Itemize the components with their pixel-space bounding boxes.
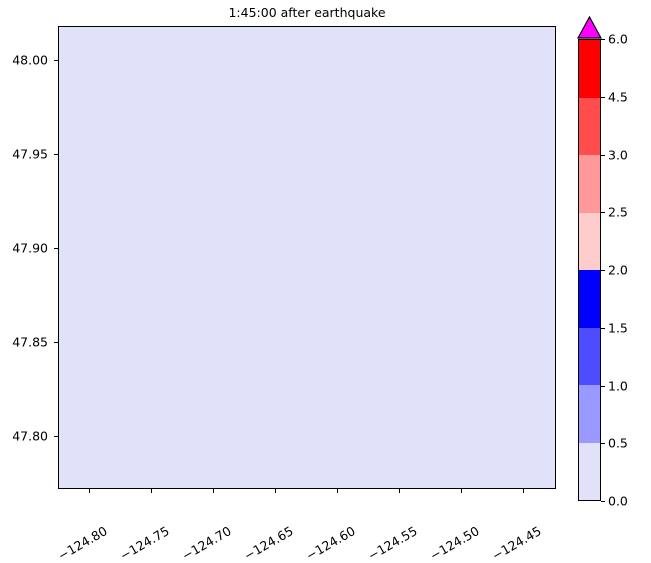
y-tick-mark: [54, 60, 58, 61]
colorbar-tick-mark: [601, 212, 605, 213]
colorbar-tick-label: 1.0: [608, 378, 628, 393]
y-tick-label: 47.80: [0, 429, 48, 444]
colorbar-band: [579, 155, 600, 213]
colorbar-band: [579, 213, 600, 271]
colorbar-band: [579, 98, 600, 156]
colorbar-band: [579, 270, 600, 328]
colorbar-tick-label: 6.0: [608, 32, 628, 47]
colorbar-tick-mark: [601, 270, 605, 271]
colorbar-band: [579, 385, 600, 443]
x-tick-label: −124.45: [536, 496, 590, 536]
colorbar-tick-label: 0.0: [608, 494, 628, 509]
colorbar-band: [579, 328, 600, 386]
x-tick-label: −124.50: [474, 496, 528, 536]
y-tick-mark: [54, 436, 58, 437]
y-tick-label: 47.85: [0, 335, 48, 350]
x-tick-mark: [213, 489, 214, 493]
colorbar-tick-mark: [601, 386, 605, 387]
colorbar-over-arrow: [577, 16, 602, 39]
colorbar-tick-mark: [601, 39, 605, 40]
colorbar-tick-label: 0.5: [608, 436, 628, 451]
x-tick-mark: [337, 489, 338, 493]
x-tick-label: −124.75: [164, 496, 218, 536]
x-tick-label: −124.60: [350, 496, 404, 536]
x-tick-label: −124.65: [288, 496, 342, 536]
y-tick-label: 47.90: [0, 241, 48, 256]
colorbar-tick-label: 2.0: [608, 263, 628, 278]
y-tick-mark: [54, 154, 58, 155]
colorbar-tick-mark: [601, 155, 605, 156]
x-tick-mark: [523, 489, 524, 493]
colorbar: [578, 39, 601, 501]
x-tick-mark: [89, 489, 90, 493]
y-tick-label: 48.00: [0, 52, 48, 67]
y-tick-mark: [54, 248, 58, 249]
x-tick-label: −124.80: [102, 496, 156, 536]
x-tick-mark: [399, 489, 400, 493]
figure-canvas: 1:45:00 after earthquake 48.0047.9547.90…: [0, 0, 651, 540]
colorbar-tick-label: 1.5: [608, 320, 628, 335]
colorbar-tick-mark: [601, 328, 605, 329]
colorbar-band: [579, 443, 600, 501]
colorbar-tick-label: 4.5: [608, 89, 628, 104]
y-tick-label: 47.95: [0, 146, 48, 161]
plot-title: 1:45:00 after earthquake: [58, 5, 556, 20]
colorbar-band: [579, 40, 600, 98]
x-tick-mark: [461, 489, 462, 493]
x-tick-label: −124.70: [226, 496, 280, 536]
colorbar-tick-mark: [601, 501, 605, 502]
map-axes-area: [58, 26, 556, 489]
colorbar-tick-label: 3.0: [608, 147, 628, 162]
x-tick-label: −124.55: [412, 496, 466, 536]
x-tick-mark: [151, 489, 152, 493]
x-tick-mark: [275, 489, 276, 493]
y-tick-mark: [54, 342, 58, 343]
colorbar-tick-label: 2.5: [608, 205, 628, 220]
colorbar-tick-mark: [601, 97, 605, 98]
colorbar-tick-mark: [601, 443, 605, 444]
